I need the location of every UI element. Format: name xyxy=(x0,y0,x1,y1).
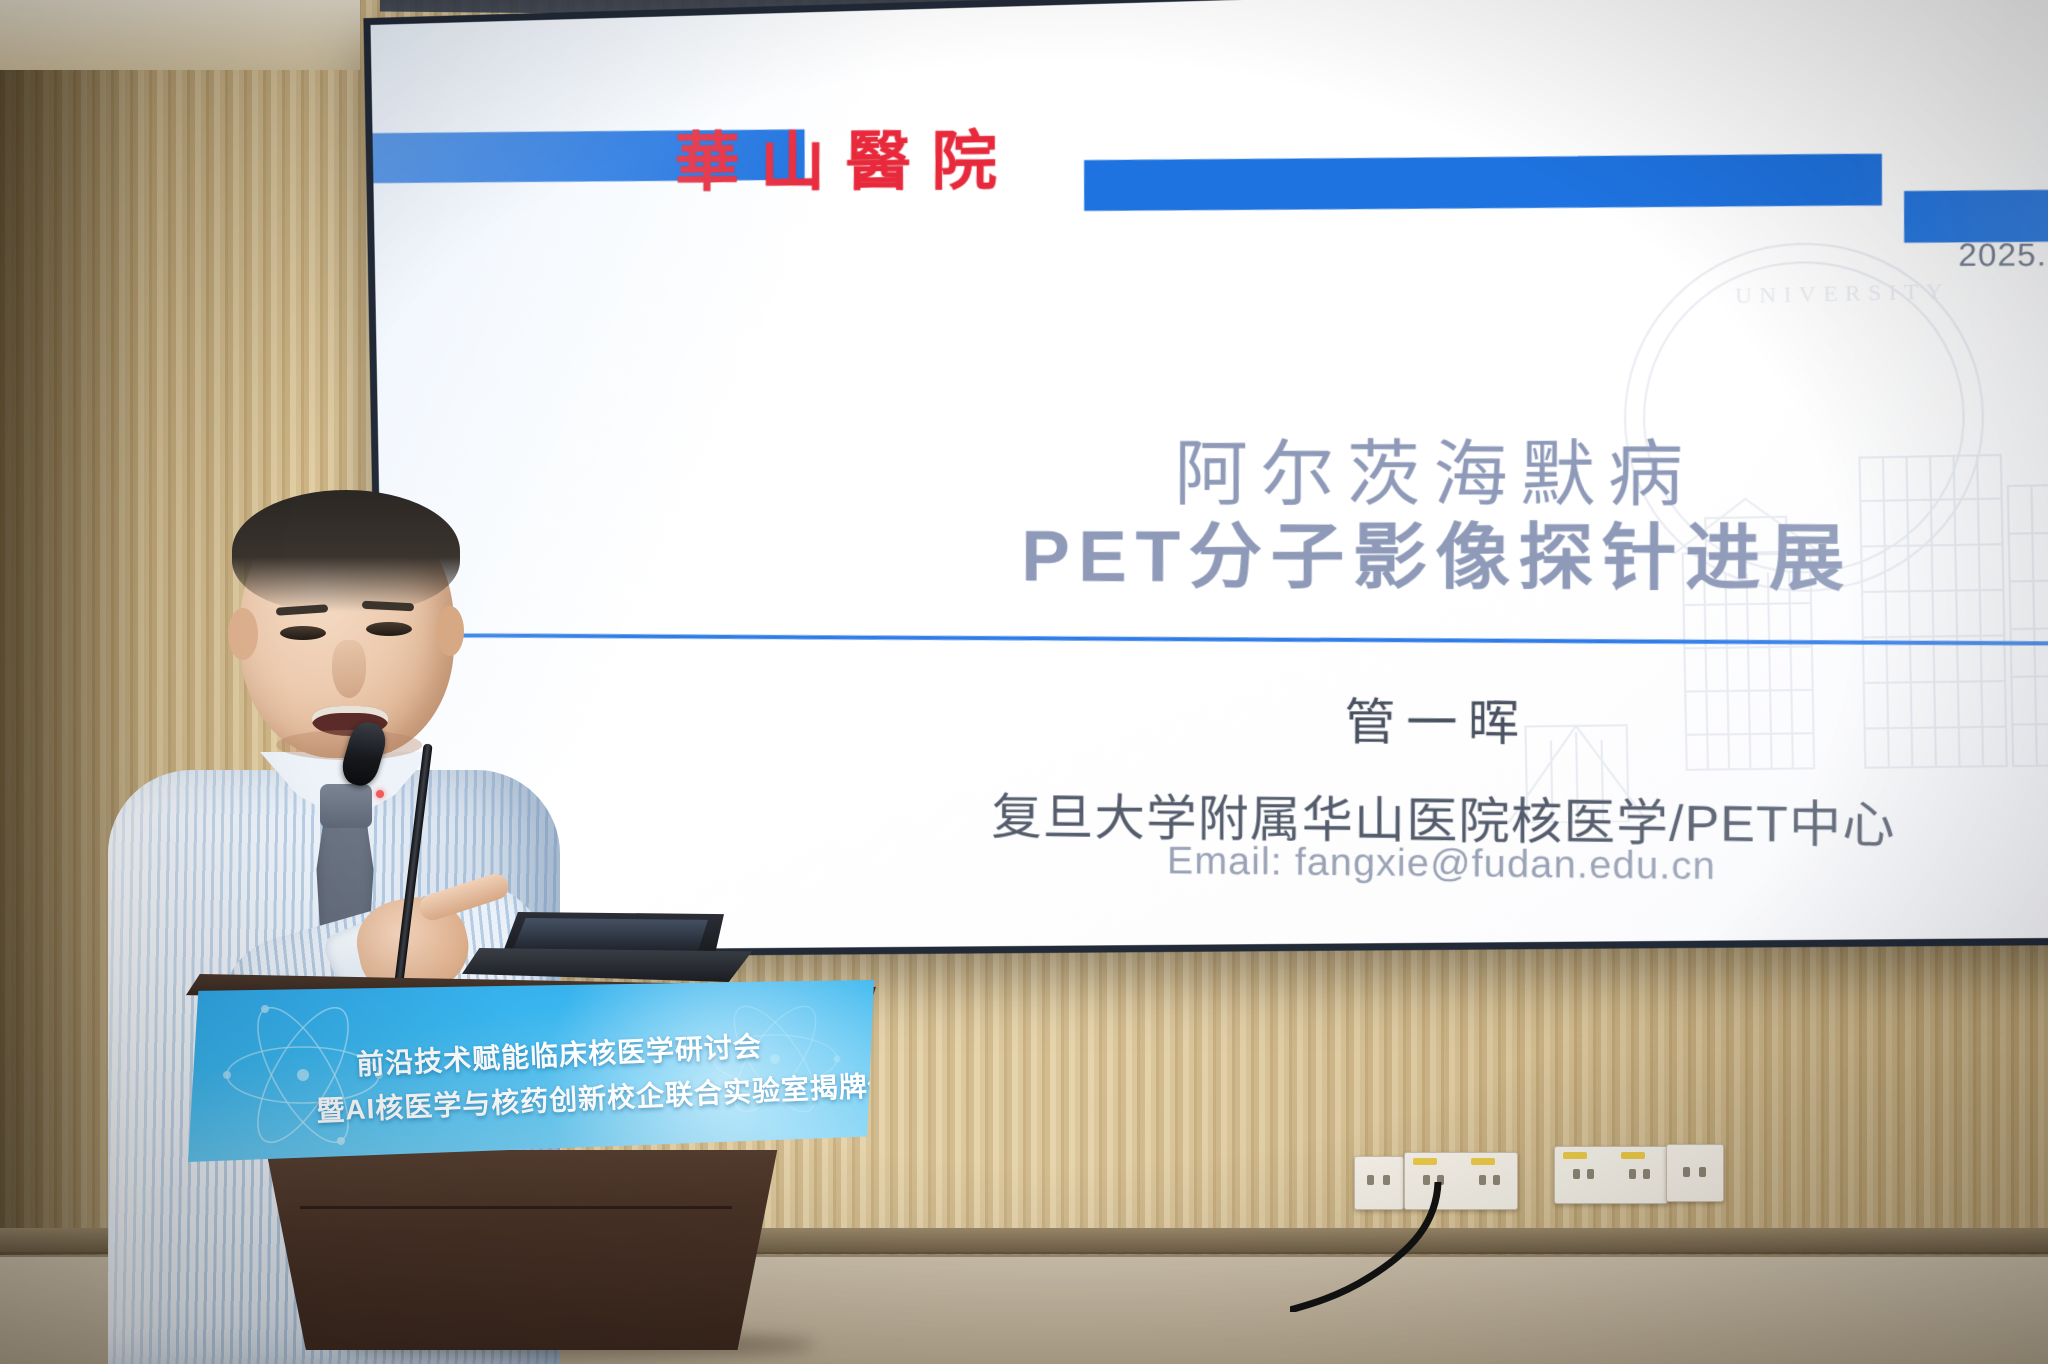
presenter-eye-right xyxy=(366,622,412,636)
header-accent-bar-3 xyxy=(1904,189,2048,242)
hospital-logo: 華山醫院 xyxy=(675,109,1018,204)
presenter-hair xyxy=(232,490,460,612)
presenter-ear-right xyxy=(436,606,464,656)
presenter-tie-knot xyxy=(320,784,372,828)
presentation-slide: UNIVERSITY 華山醫院 2025.12 阿尔茨海默病 PET分子影像探针… xyxy=(371,0,2048,951)
wall-socket-4[interactable] xyxy=(1666,1144,1724,1202)
podium-seam xyxy=(300,1206,732,1209)
presenter-eye-left xyxy=(280,626,326,640)
header-accent-bar-2 xyxy=(1084,154,1882,211)
lecture-photo-scene: UNIVERSITY 華山醫院 2025.12 阿尔茨海默病 PET分子影像探针… xyxy=(0,0,2048,1364)
slide-title-block: 阿尔茨海默病 PET分子影像探针进展 xyxy=(854,434,2028,603)
podium-banner-panel: 前沿技术赋能临床核医学研讨会 暨AI核医学与核药创新校企联合实验室揭牌仪式 xyxy=(188,980,874,1162)
slide-title-line2: PET分子影像探针进展 xyxy=(854,515,2028,603)
slide-speaker-name: 管一晖 xyxy=(858,679,2032,760)
slide-date: 2025.12 xyxy=(1958,236,2048,274)
podium-wood-body xyxy=(232,1150,800,1350)
microphone-led-indicator xyxy=(376,790,384,798)
wall-socket-3[interactable] xyxy=(1554,1146,1668,1204)
ceiling-corner xyxy=(0,0,360,70)
slide-title-line1: 阿尔茨海默病 xyxy=(854,434,2028,517)
presenter-nose xyxy=(332,640,366,698)
black-power-cable-icon xyxy=(1290,1182,1530,1312)
svg-text:UNIVERSITY: UNIVERSITY xyxy=(1735,278,1951,309)
podium: 前沿技术赋能临床核医学研讨会 暨AI核医学与核药创新校企联合实验室揭牌仪式 xyxy=(186,952,876,1364)
projection-screen-frame: UNIVERSITY 華山醫院 2025.12 阿尔茨海默病 PET分子影像探针… xyxy=(363,0,2048,958)
presenter-ear-left xyxy=(228,608,258,660)
